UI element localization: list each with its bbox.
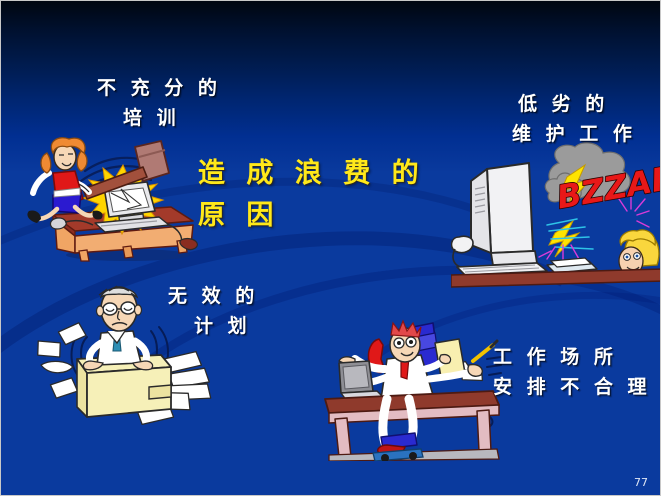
label-ineffective-planning: 无 效 的 计 划 — [168, 281, 258, 341]
label-maintenance-line2: 维 护 工 作 — [512, 119, 636, 149]
person-peeking — [619, 230, 659, 275]
slide-canvas: BZZAP! — [0, 0, 661, 496]
page-number: 77 — [634, 476, 648, 489]
slide-title: 造 成 浪 费 的 原 因 — [198, 153, 448, 237]
label-inadequate-training: 不 充 分 的 培 训 — [97, 73, 221, 133]
label-training-line2: 培 训 — [97, 103, 221, 133]
label-poor-maintenance: 低 劣 的 维 护 工 作 — [512, 89, 636, 149]
label-workspace-line2: 安 排 不 合 理 — [493, 372, 650, 402]
slide-title-line2: 因 — [246, 200, 279, 231]
illustration-smashing-computer — [23, 137, 208, 262]
label-training-line1: 不 充 分 的 — [97, 73, 221, 103]
illustration-exploding-monitor: BZZAP! — [451, 141, 661, 293]
label-workspace-line1: 工 作 场 所 — [493, 342, 650, 372]
label-planning-line2: 计 划 — [168, 311, 258, 341]
label-planning-line1: 无 效 的 — [168, 281, 258, 311]
monitor — [452, 163, 537, 267]
label-maintenance-line1: 低 劣 的 — [512, 89, 636, 119]
label-poor-workspace-layout: 工 作 场 所 安 排 不 合 理 — [493, 342, 650, 402]
slide-title-line1: 造 成 浪 费 的 原 — [198, 158, 425, 231]
illustration-overworked-worker — [321, 319, 503, 461]
